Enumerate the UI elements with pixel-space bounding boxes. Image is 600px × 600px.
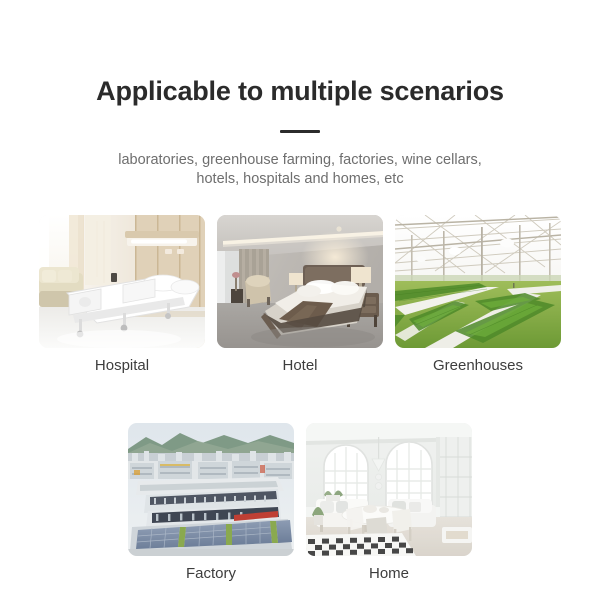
hotel-room-photo: [217, 215, 383, 348]
scenario-card-factory[interactable]: Factory: [128, 423, 294, 584]
scenario-row-1: Hospital: [0, 215, 600, 376]
title-divider: [280, 130, 320, 133]
scenario-card-greenhouses[interactable]: Greenhouses: [395, 215, 561, 376]
page-subtitle: laboratories, greenhouse farming, factor…: [0, 151, 600, 189]
home-interior-photo: [306, 423, 472, 556]
scenario-card-label: Greenhouses: [395, 356, 561, 376]
page-header: Applicable to multiple scenarios laborat…: [0, 74, 600, 189]
scenario-card-label: Hotel: [217, 356, 383, 376]
scenario-card-label: Factory: [128, 564, 294, 584]
scenarios-page: Applicable to multiple scenarios laborat…: [0, 0, 600, 600]
greenhouse-interior-photo: [395, 215, 561, 348]
hospital-room-photo: [39, 215, 205, 348]
subtitle-line-1: laboratories, greenhouse farming, factor…: [118, 152, 481, 168]
subtitle-line-2: hotels, hospitals and homes, etc: [196, 171, 403, 187]
scenario-card-label: Hospital: [39, 356, 205, 376]
scenario-card-hospital[interactable]: Hospital: [39, 215, 205, 376]
scenario-row-2: Factory: [0, 423, 600, 584]
scenario-grid: Hospital: [0, 215, 600, 584]
factory-aerial-photo: [128, 423, 294, 556]
scenario-card-home[interactable]: Home: [306, 423, 472, 584]
scenario-card-label: Home: [306, 564, 472, 584]
scenario-card-hotel[interactable]: Hotel: [217, 215, 383, 376]
page-title: Applicable to multiple scenarios: [0, 74, 600, 108]
divider-wrapper: [0, 130, 600, 134]
